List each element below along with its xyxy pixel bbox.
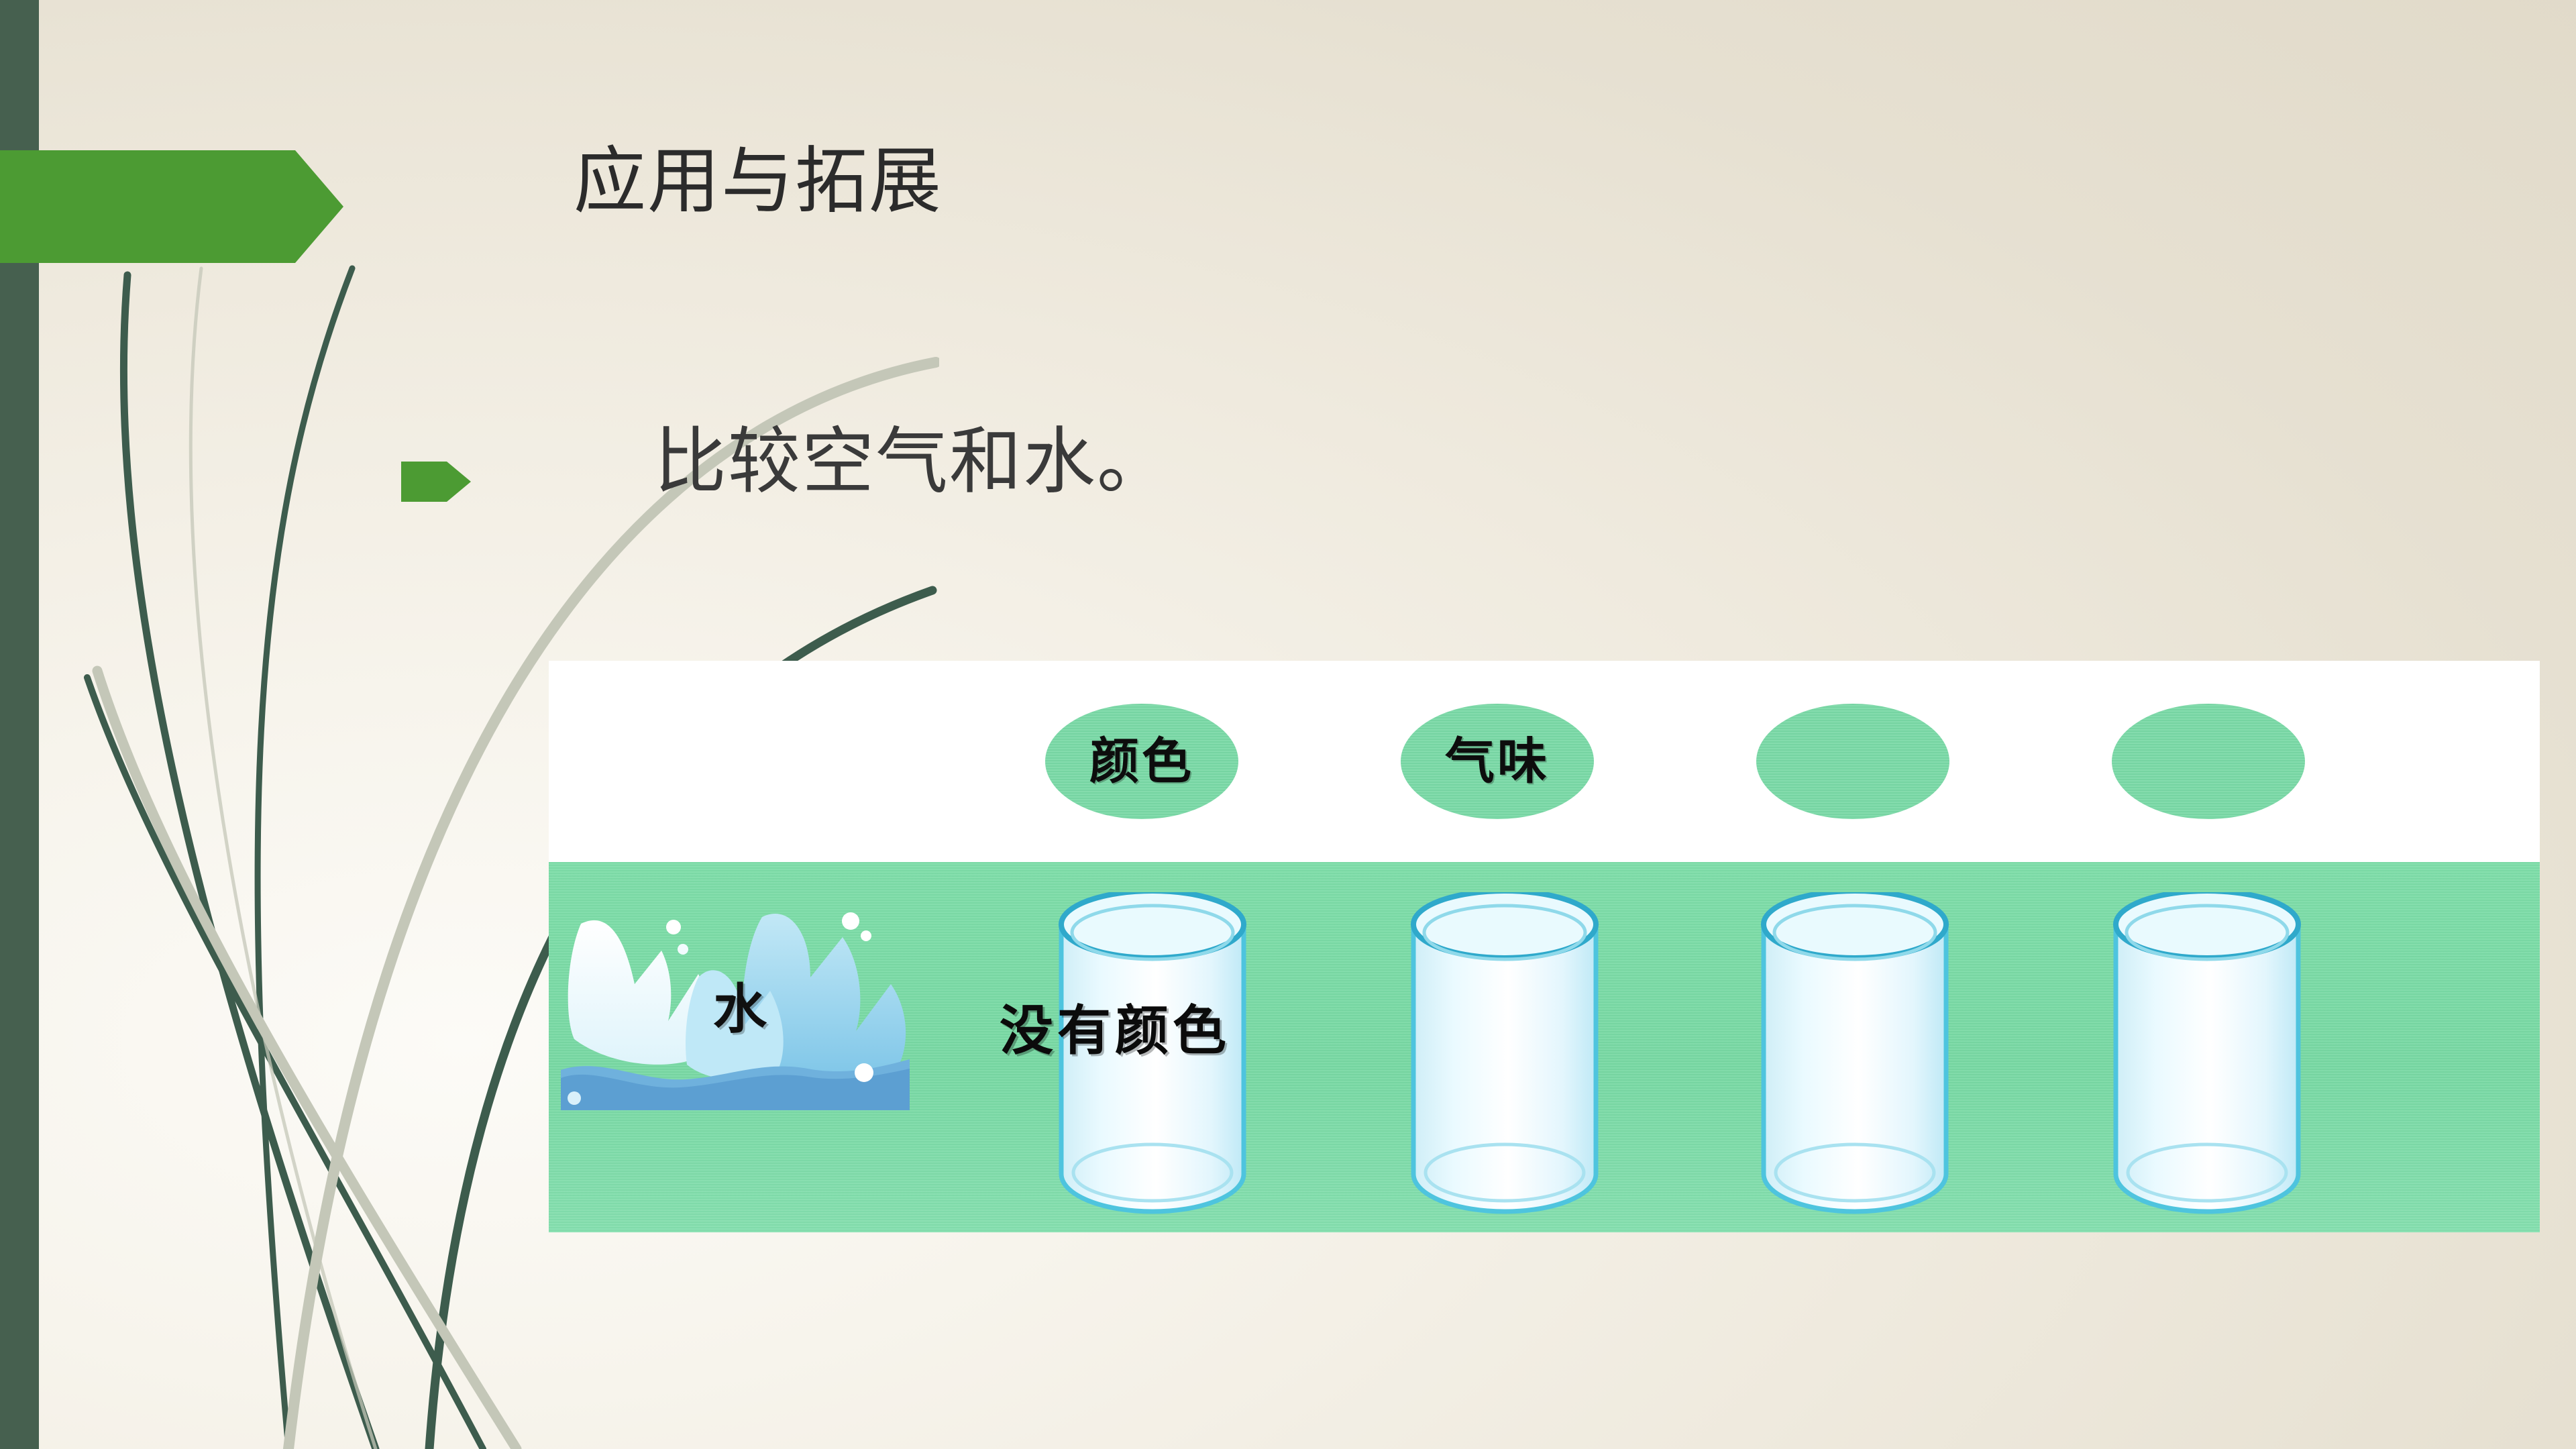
header-cell-label: 颜色 (1089, 737, 1194, 786)
header-cell-ellipse (2112, 704, 2305, 819)
header-cell-label: 气味 (1445, 737, 1550, 786)
row-label-water: 水 (713, 983, 767, 1036)
glass-cup-icon (1754, 892, 1955, 1214)
glass-cup-icon (1404, 892, 1605, 1214)
banner-chevron-shape (0, 150, 343, 263)
slide-canvas: 应用与拓展 比较空气和水。 颜色 气味 (0, 0, 2576, 1449)
body-text: 比较空气和水。 (654, 416, 1171, 506)
chevron-right-icon (401, 462, 471, 502)
header-cell-ellipse (1756, 704, 1949, 819)
comparison-table-image: 颜色 气味 (549, 661, 2540, 1232)
glass-cup-icon (2106, 892, 2308, 1214)
header-cell-ellipse: 颜色 (1045, 704, 1238, 819)
row-note-no-color: 没有颜色 (1000, 1004, 1230, 1058)
header-cell-ellipse: 气味 (1401, 704, 1594, 819)
page-title: 应用与拓展 (574, 138, 943, 225)
